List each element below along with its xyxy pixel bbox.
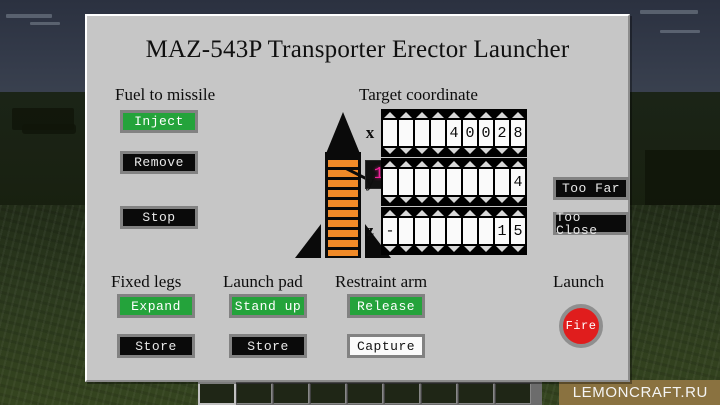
- digit-increment-icon[interactable]: [447, 112, 461, 119]
- digit-decrement-icon[interactable]: [463, 196, 477, 203]
- legs-expand-button[interactable]: Expand: [117, 294, 195, 318]
- digit-increment-icon[interactable]: [431, 161, 445, 168]
- digit-cell[interactable]: [447, 218, 461, 244]
- cloud: [640, 10, 698, 14]
- hotbar[interactable]: [198, 380, 542, 405]
- digit-decrement-icon[interactable]: [383, 147, 397, 154]
- digit-column[interactable]: [399, 210, 413, 252]
- digit-increment-icon[interactable]: [399, 112, 413, 119]
- section-label-fuel: Fuel to missile: [115, 85, 215, 105]
- digit-decrement-icon[interactable]: [511, 245, 525, 252]
- cloud: [6, 14, 52, 18]
- digit-column[interactable]: [447, 161, 461, 203]
- digit-increment-icon[interactable]: [479, 112, 493, 119]
- digit-cell[interactable]: [463, 169, 477, 195]
- digit-increment-icon[interactable]: [415, 210, 429, 217]
- digit-cell[interactable]: 1: [495, 218, 509, 244]
- axis-label-z: z: [359, 221, 381, 241]
- digit-decrement-icon[interactable]: [399, 196, 413, 203]
- digit-increment-icon[interactable]: [463, 210, 477, 217]
- terrain-hill: [22, 124, 76, 134]
- digit-decrement-icon[interactable]: [495, 196, 509, 203]
- digit-cell[interactable]: [431, 169, 445, 195]
- digit-column[interactable]: [447, 210, 461, 252]
- y-coordinate-spinner[interactable]: 4: [381, 158, 527, 206]
- digit-increment-icon[interactable]: [463, 112, 477, 119]
- hotbar-slot[interactable]: [384, 383, 420, 404]
- digit-cell[interactable]: [447, 169, 461, 195]
- digit-cell[interactable]: [415, 169, 429, 195]
- stop-fuel-button[interactable]: Stop: [120, 206, 198, 229]
- digit-increment-icon[interactable]: [447, 161, 461, 168]
- digit-column[interactable]: [431, 112, 445, 154]
- digit-cell[interactable]: [415, 120, 429, 146]
- arm-capture-button[interactable]: Capture: [347, 334, 425, 358]
- digit-column[interactable]: [431, 210, 445, 252]
- digit-increment-icon[interactable]: [511, 112, 525, 119]
- digit-increment-icon[interactable]: [495, 161, 509, 168]
- digit-column[interactable]: 4: [447, 112, 461, 154]
- digit-cell[interactable]: -: [383, 218, 397, 244]
- digit-cell[interactable]: 4: [447, 120, 461, 146]
- inject-fuel-button[interactable]: Inject: [120, 110, 198, 133]
- digit-cell[interactable]: 8: [511, 120, 525, 146]
- digit-cell[interactable]: [431, 120, 445, 146]
- pad-store-button[interactable]: Store: [229, 334, 307, 358]
- digit-cell[interactable]: [399, 120, 413, 146]
- too-close-button[interactable]: Too Close: [553, 212, 629, 235]
- too-far-button[interactable]: Too Far: [553, 177, 629, 200]
- digit-decrement-icon[interactable]: [495, 147, 509, 154]
- digit-cell[interactable]: 0: [479, 120, 493, 146]
- digit-increment-icon[interactable]: [479, 161, 493, 168]
- arm-release-button[interactable]: Release: [347, 294, 425, 318]
- missile-fin-left: [295, 224, 321, 258]
- hotbar-slot[interactable]: [199, 383, 235, 404]
- digit-cell[interactable]: [399, 218, 413, 244]
- digit-increment-icon[interactable]: [463, 161, 477, 168]
- digit-column[interactable]: 2: [495, 112, 509, 154]
- digit-increment-icon[interactable]: [495, 210, 509, 217]
- digit-column[interactable]: [479, 161, 493, 203]
- digit-decrement-icon[interactable]: [479, 147, 493, 154]
- pad-stand-up-button[interactable]: Stand up: [229, 294, 307, 318]
- coordinate-row-y: y 4: [359, 158, 527, 206]
- hotbar-slot[interactable]: [458, 383, 494, 404]
- digit-decrement-icon[interactable]: [399, 147, 413, 154]
- digit-increment-icon[interactable]: [431, 112, 445, 119]
- digit-column[interactable]: [463, 161, 477, 203]
- digit-column[interactable]: [415, 161, 429, 203]
- digit-increment-icon[interactable]: [511, 210, 525, 217]
- hotbar-slot[interactable]: [421, 383, 457, 404]
- digit-column[interactable]: [383, 161, 397, 203]
- digit-column[interactable]: 8: [511, 112, 525, 154]
- launcher-control-panel: MAZ-543P Transporter Erector Launcher Fu…: [85, 14, 630, 382]
- digit-column[interactable]: 5: [511, 210, 525, 252]
- digit-decrement-icon[interactable]: [415, 196, 429, 203]
- digit-cell[interactable]: [415, 218, 429, 244]
- digit-cell[interactable]: [479, 218, 493, 244]
- digit-cell[interactable]: [463, 218, 477, 244]
- cloud: [660, 30, 700, 33]
- digit-increment-icon[interactable]: [479, 210, 493, 217]
- legs-store-button[interactable]: Store: [117, 334, 195, 358]
- digit-increment-icon[interactable]: [383, 210, 397, 217]
- digit-decrement-icon[interactable]: [415, 245, 429, 252]
- digit-decrement-icon[interactable]: [431, 196, 445, 203]
- digit-cell[interactable]: [383, 120, 397, 146]
- digit-column[interactable]: [415, 112, 429, 154]
- hotbar-slot[interactable]: [273, 383, 309, 404]
- digit-decrement-icon[interactable]: [447, 196, 461, 203]
- terrain-hill: [645, 150, 720, 210]
- digit-cell[interactable]: 2: [495, 120, 509, 146]
- section-label-arm: Restraint arm: [335, 272, 427, 292]
- digit-decrement-icon[interactable]: [431, 147, 445, 154]
- z-coordinate-spinner[interactable]: -15: [381, 207, 527, 255]
- digit-decrement-icon[interactable]: [463, 245, 477, 252]
- hotbar-slot[interactable]: [495, 383, 531, 404]
- digit-cell[interactable]: 5: [511, 218, 525, 244]
- hotbar-slot[interactable]: [236, 383, 272, 404]
- digit-increment-icon[interactable]: [415, 161, 429, 168]
- missile-nose-cone: [325, 112, 361, 156]
- digit-decrement-icon[interactable]: [383, 245, 397, 252]
- digit-cell[interactable]: 0: [463, 120, 477, 146]
- hotbar-slot[interactable]: [347, 383, 383, 404]
- coordinate-row-z: z -15: [359, 207, 527, 255]
- digit-column[interactable]: 4: [511, 161, 525, 203]
- digit-decrement-icon[interactable]: [399, 245, 413, 252]
- digit-column[interactable]: 0: [463, 112, 477, 154]
- section-label-legs: Fixed legs: [111, 272, 181, 292]
- digit-increment-icon[interactable]: [383, 161, 397, 168]
- digit-decrement-icon[interactable]: [447, 245, 461, 252]
- remove-fuel-button[interactable]: Remove: [120, 151, 198, 174]
- digit-column[interactable]: [399, 161, 413, 203]
- digit-column[interactable]: [463, 210, 477, 252]
- digit-decrement-icon[interactable]: [431, 245, 445, 252]
- digit-cell[interactable]: [495, 169, 509, 195]
- digit-increment-icon[interactable]: [447, 210, 461, 217]
- digit-column[interactable]: [415, 210, 429, 252]
- digit-increment-icon[interactable]: [399, 161, 413, 168]
- digit-decrement-icon[interactable]: [511, 196, 525, 203]
- digit-column[interactable]: [399, 112, 413, 154]
- digit-column[interactable]: [383, 112, 397, 154]
- axis-label-y: y: [359, 172, 381, 192]
- digit-decrement-icon[interactable]: [415, 147, 429, 154]
- digit-decrement-icon[interactable]: [511, 147, 525, 154]
- digit-increment-icon[interactable]: [495, 112, 509, 119]
- digit-increment-icon[interactable]: [431, 210, 445, 217]
- coordinate-row-x: x 40028: [359, 109, 527, 157]
- section-label-pad: Launch pad: [223, 272, 303, 292]
- digit-decrement-icon[interactable]: [479, 196, 493, 203]
- hotbar-slot[interactable]: [310, 383, 346, 404]
- digit-decrement-icon[interactable]: [463, 147, 477, 154]
- fire-launch-button[interactable]: Fire: [559, 304, 603, 348]
- digit-column[interactable]: [479, 210, 493, 252]
- digit-decrement-icon[interactable]: [495, 245, 509, 252]
- digit-increment-icon[interactable]: [383, 112, 397, 119]
- digit-increment-icon[interactable]: [511, 161, 525, 168]
- axis-label-x: x: [359, 123, 381, 143]
- digit-column[interactable]: [431, 161, 445, 203]
- digit-cell[interactable]: [479, 169, 493, 195]
- digit-cell[interactable]: [383, 169, 397, 195]
- page-title: MAZ-543P Transporter Erector Launcher: [87, 36, 628, 64]
- digit-cell[interactable]: [399, 169, 413, 195]
- digit-increment-icon[interactable]: [399, 210, 413, 217]
- x-coordinate-spinner[interactable]: 40028: [381, 109, 527, 157]
- digit-decrement-icon[interactable]: [447, 147, 461, 154]
- digit-cell[interactable]: [431, 218, 445, 244]
- digit-column[interactable]: 0: [479, 112, 493, 154]
- digit-cell[interactable]: 4: [511, 169, 525, 195]
- watermark: LEMONCRAFT.RU: [559, 380, 720, 405]
- digit-decrement-icon[interactable]: [383, 196, 397, 203]
- cloud: [30, 22, 60, 25]
- digit-column[interactable]: 1: [495, 210, 509, 252]
- digit-decrement-icon[interactable]: [479, 245, 493, 252]
- digit-increment-icon[interactable]: [415, 112, 429, 119]
- section-label-target: Target coordinate: [359, 85, 478, 105]
- digit-column[interactable]: [495, 161, 509, 203]
- section-label-launch: Launch: [553, 272, 604, 292]
- digit-column[interactable]: -: [383, 210, 397, 252]
